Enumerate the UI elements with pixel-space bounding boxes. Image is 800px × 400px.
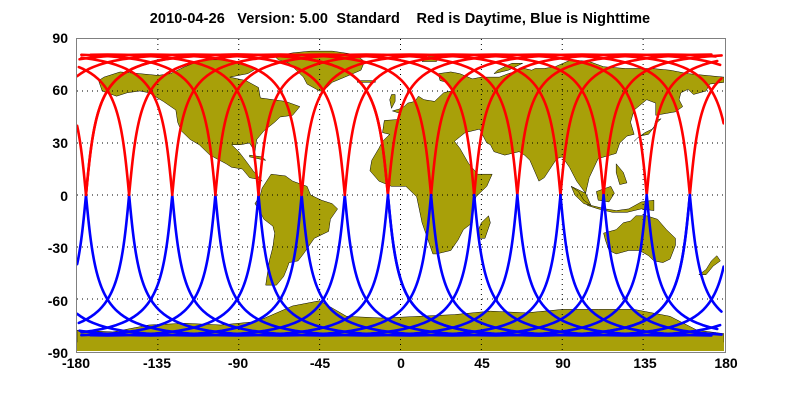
x-tick-label: 90 [528,356,598,370]
y-tick-label: -60 [8,294,68,308]
x-tick-label: 135 [610,356,680,370]
figure-title: 2010-04-26 Version: 5.00 Standard Red is… [0,11,800,27]
x-tick-label: -45 [285,356,355,370]
x-tick-label: -90 [203,356,273,370]
x-tick-label: 180 [691,356,761,370]
y-tick-label: -30 [8,241,68,255]
plot-frame [76,38,726,353]
x-tick-label: 0 [366,356,436,370]
ground-track-figure: 2010-04-26 Version: 5.00 Standard Red is… [0,0,800,400]
x-tick-label: 45 [447,356,517,370]
x-tick-label: -135 [122,356,192,370]
plot-area [77,39,725,352]
y-tick-label: 30 [8,136,68,150]
y-tick-label: 0 [8,189,68,203]
x-tick-label: -180 [41,356,111,370]
y-tick-label: 90 [8,31,68,45]
y-tick-label: 60 [8,83,68,97]
map-and-tracks [77,39,724,351]
